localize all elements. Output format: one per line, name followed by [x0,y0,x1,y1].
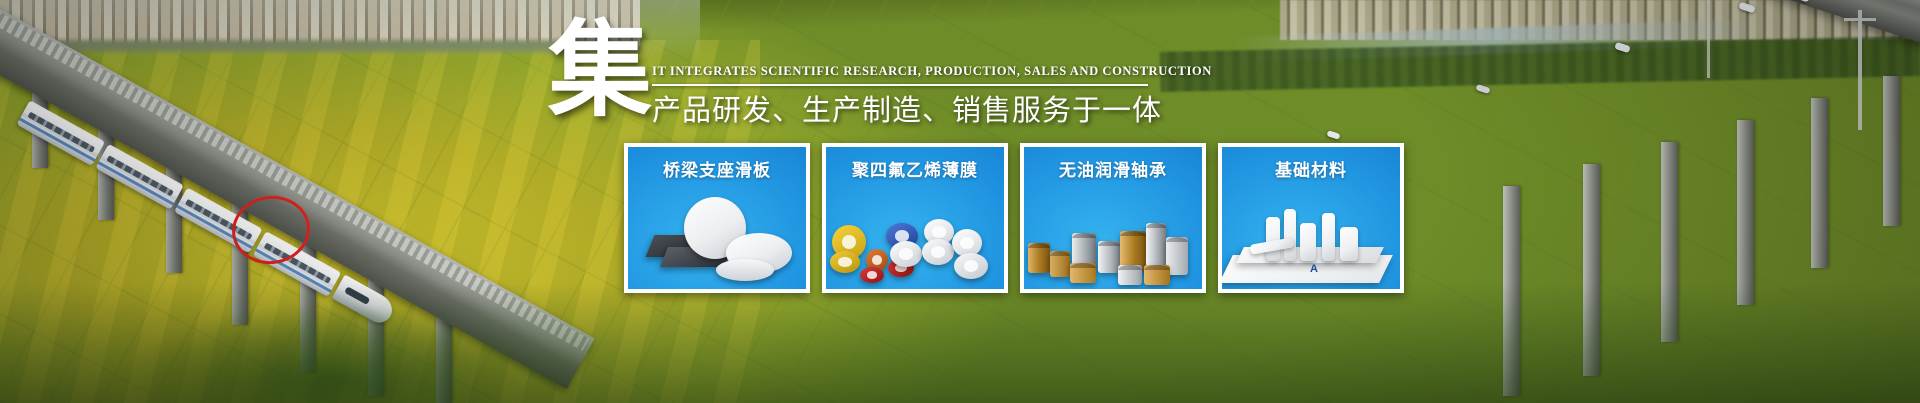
hero-banner: 集 IT INTEGRATES SCIENTIFIC RESEARCH, PRO… [0,0,1920,403]
base-materials-icon: A [1222,189,1400,289]
product-card-title: 基础材料 [1222,156,1400,181]
headline-character: 集 [548,14,652,126]
product-card-ptfe-film[interactable]: 聚四氟乙烯薄膜 [822,143,1008,293]
ptfe-film-rolls-icon [826,189,1004,289]
product-card-title: 聚四氟乙烯薄膜 [826,156,1004,181]
oil-free-lubricated-bearings-icon [1024,189,1202,289]
bridge-bearing-slide-plates-icon [628,189,806,289]
product-card-base-materials[interactable]: 基础材料 A [1218,143,1404,293]
english-tagline: IT INTEGRATES SCIENTIFIC RESEARCH, PRODU… [652,64,1152,79]
base-material-label: A [1310,263,1318,275]
product-card-title: 无油润滑轴承 [1024,156,1202,181]
product-card-title: 桥梁支座滑板 [628,156,806,181]
headline-divider [652,84,1148,86]
product-card-oil-free-bearings[interactable]: 无油润滑轴承 [1020,143,1206,293]
product-card-list: 桥梁支座滑板 聚四氟乙烯薄膜 [624,143,1404,293]
headline-block: 集 IT INTEGRATES SCIENTIFIC RESEARCH, PRO… [548,18,1168,138]
product-card-bridge-bearing-slide-plates[interactable]: 桥梁支座滑板 [624,143,810,293]
chinese-tagline: 产品研发、生产制造、销售服务于一体 [652,90,1172,130]
